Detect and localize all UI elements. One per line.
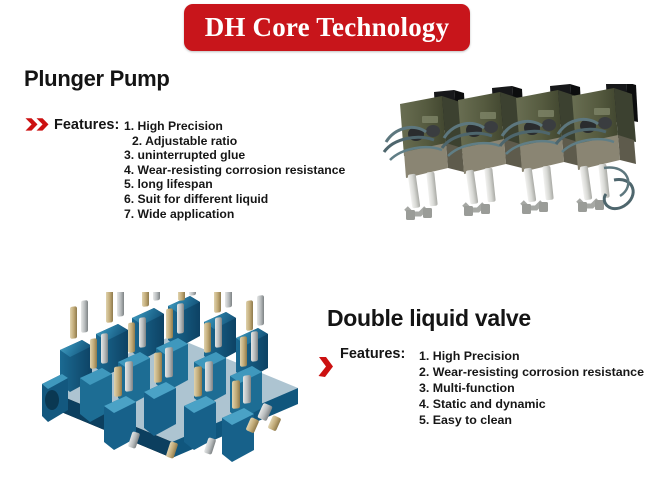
chevron-right-icon [317,356,335,378]
list-item: 2. Wear-resisting corrosion resistance [419,364,644,380]
list-item: 5. Easy to clean [419,412,644,428]
list-item: 1. High Precision [419,348,644,364]
list-item: 2. Adjustable ratio [124,134,345,149]
title-banner: DH Core Technology [184,4,470,51]
list-item: 1. High Precision [124,119,345,134]
double-liquid-valve-photo [22,292,314,470]
features-label-double-liquid-valve: Features: [340,346,405,362]
list-item: 3. Multi-function [419,380,644,396]
feature-list-double-liquid-valve: 1. High Precision 2. Wear-resisting corr… [419,348,644,428]
list-item: 6. Suit for different liquid [124,192,345,207]
list-item: 4. Static and dynamic [419,396,644,412]
double-chevron-right-icon [25,117,52,132]
section-heading-double-liquid-valve: Double liquid valve [327,305,531,332]
list-item: 3. uninterrupted glue [124,148,345,163]
page-title: DH Core Technology [205,12,450,43]
feature-list-plunger-pump: 1. High Precision 2. Adjustable ratio 3.… [124,119,345,221]
features-label-plunger-pump: Features: [54,117,119,133]
list-item: 5. long lifespan [124,177,345,192]
section-heading-plunger-pump: Plunger Pump [24,66,170,92]
plunger-pump-photo [378,84,646,256]
list-item: 4. Wear-resisting corrosion resistance [124,163,345,178]
list-item: 7. Wide application [124,207,345,222]
